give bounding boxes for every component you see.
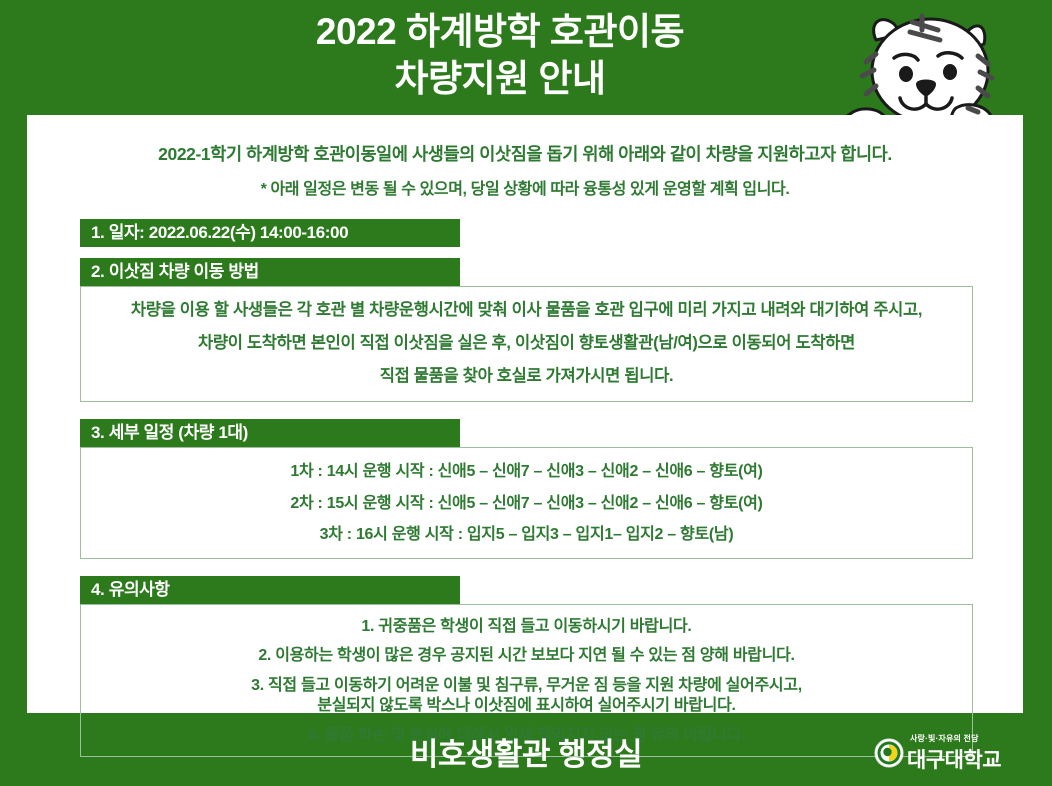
schedule-trip-1: 1차 : 14시 운행 시작 : 신애5 – 신애7 – 신애3 – 신애2 –… — [91, 462, 962, 482]
notice-card: 2022-1학기 하계방학 호관이동일에 사생들의 이삿짐을 돕기 위해 아래와… — [27, 115, 1023, 713]
university-tagline: 사랑·빛·자유의 전당 — [910, 733, 979, 744]
poster-footer: 비호생활관 행정실 사랑·빛·자유의 전당 대구대학교 — [0, 713, 1052, 786]
section-method-line-2: 차량이 도착하면 본인이 직접 이삿짐을 실은 후, 이삿짐이 향토생활관(남/… — [91, 333, 962, 353]
section-method-line-3: 직접 물품을 찾아 호실로 가져가시면 됩니다. — [91, 366, 962, 386]
section-notes-header: 4. 유의사항 — [80, 576, 460, 604]
section-method-header: 2. 이삿짐 차량 이동 방법 — [80, 258, 460, 286]
poster-header: 2022 하계방학 호관이동 차량지원 안내 — [0, 0, 1052, 115]
note-item-3: 3. 직접 들고 이동하기 어려운 이불 및 침구류, 무거운 짐 등을 지원 … — [91, 676, 962, 696]
section-schedule-header: 3. 세부 일정 (차량 1대) — [80, 419, 460, 447]
section-method: 2. 이삿짐 차량 이동 방법 차량을 이용 할 사생들은 각 호관 별 차량운… — [27, 258, 1023, 402]
section-date-header: 1. 일자: 2022.06.22(수) 14:00-16:00 — [80, 219, 460, 247]
schedule-trip-2: 2차 : 15시 운행 시작 : 신애5 – 신애7 – 신애3 – 신애2 –… — [91, 494, 962, 514]
section-schedule-body: 1차 : 14시 운행 시작 : 신애5 – 신애7 – 신애3 – 신애2 –… — [80, 447, 973, 559]
university-emblem-icon — [874, 738, 904, 773]
university-logo: 사랑·빛·자유의 전당 대구대학교 — [874, 733, 1024, 773]
section-schedule: 3. 세부 일정 (차량 1대) 1차 : 14시 운행 시작 : 신애5 – … — [27, 419, 1023, 559]
intro-line-1: 2022-1학기 하계방학 호관이동일에 사생들의 이삿짐을 돕기 위해 아래와… — [27, 145, 1023, 164]
note-item-1: 1. 귀중품은 학생이 직접 들고 이동하시기 바랍니다. — [91, 617, 962, 637]
intro-text: 2022-1학기 하계방학 호관이동일에 사생들의 이삿짐을 돕기 위해 아래와… — [27, 115, 1023, 199]
schedule-trip-3: 3차 : 16시 운행 시작 : 입지5 – 입지3 – 입지1– 입지2 – … — [91, 525, 962, 545]
section-method-line-1: 차량을 이용 할 사생들은 각 호관 별 차량운행시간에 맞춰 이사 물품을 호… — [91, 300, 962, 320]
section-date: 1. 일자: 2022.06.22(수) 14:00-16:00 — [27, 219, 1023, 247]
intro-line-2: * 아래 일정은 변동 될 수 있으며, 당일 상황에 따라 융통성 있게 운영… — [27, 181, 1023, 199]
university-name: 대구대학교 — [907, 744, 1001, 774]
section-method-body: 차량을 이용 할 사생들은 각 호관 별 차량운행시간에 맞춰 이사 물품을 호… — [80, 286, 973, 402]
note-item-2: 2. 이용하는 학생이 많은 경우 공지된 시간 보보다 지연 될 수 있는 점… — [91, 646, 962, 666]
